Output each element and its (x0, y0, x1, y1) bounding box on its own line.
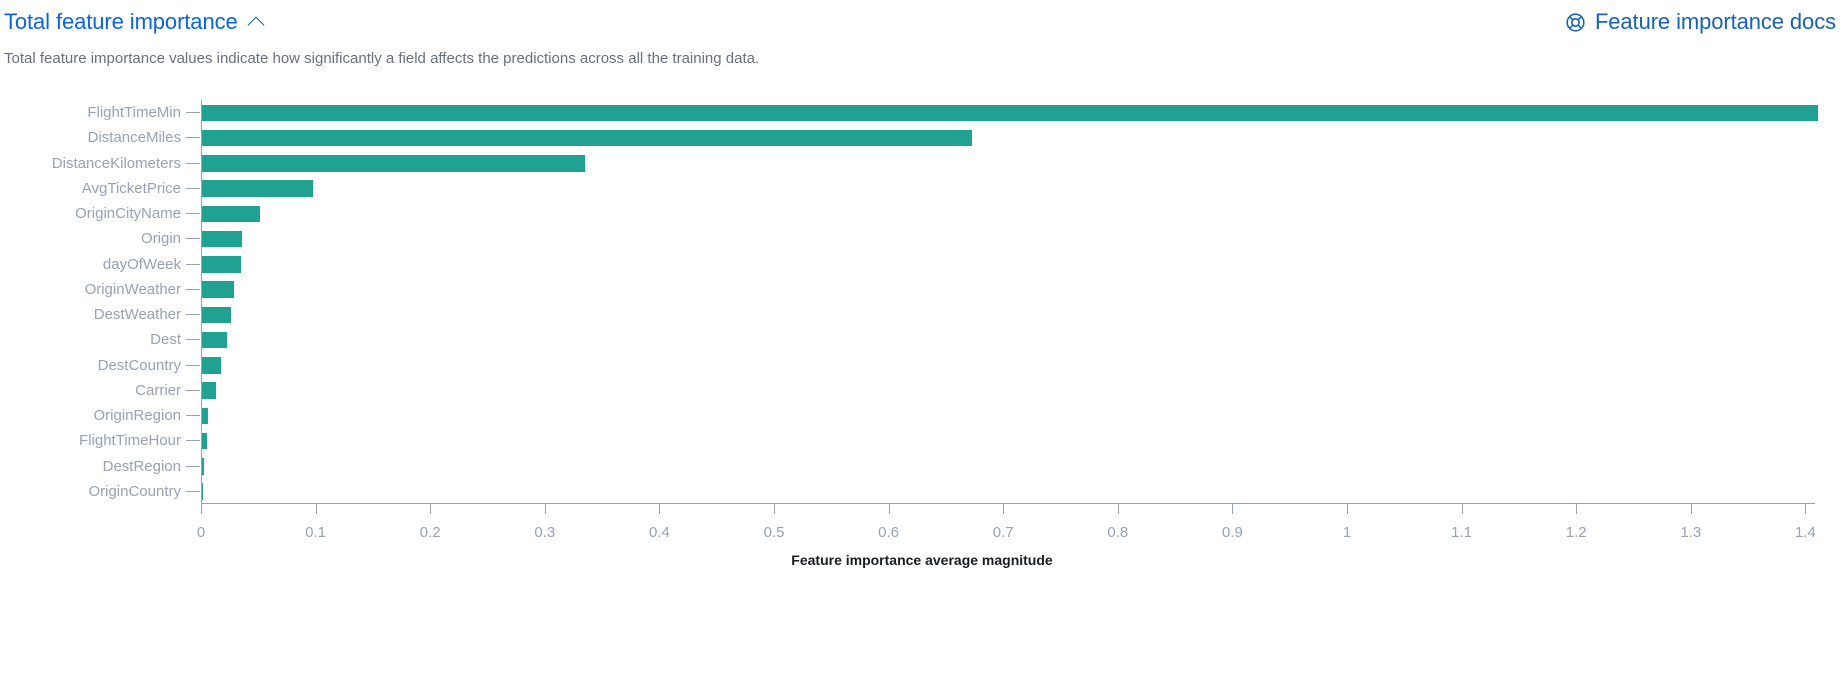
bar[interactable] (202, 180, 313, 197)
page-title: Total feature importance (4, 9, 238, 35)
y-axis-tick (186, 163, 200, 164)
bar[interactable] (202, 231, 242, 248)
y-axis-label: DistanceMiles (88, 125, 181, 150)
panel-header: Total feature importance Feature importa… (0, 0, 1844, 44)
x-axis-tick-label: 0.5 (764, 524, 785, 541)
y-axis-label: Origin (141, 226, 181, 251)
bar-row[interactable]: OriginCountry (0, 479, 1844, 504)
bar[interactable] (202, 332, 227, 349)
bar-row[interactable]: DestCountry (0, 353, 1844, 378)
y-axis-tick (186, 213, 200, 214)
chevron-up-icon[interactable] (248, 13, 266, 31)
y-axis-label: DistanceKilometers (52, 151, 181, 176)
x-axis-title: Feature importance average magnitude (0, 552, 1844, 568)
y-axis-tick (186, 390, 200, 391)
bar-row[interactable]: OriginCityName (0, 201, 1844, 226)
y-axis-label: AvgTicketPrice (82, 176, 181, 201)
bar[interactable] (202, 256, 241, 273)
y-axis-label: dayOfWeek (103, 252, 181, 277)
bar[interactable] (202, 206, 260, 223)
y-axis-label: OriginCityName (75, 201, 181, 226)
bar-row[interactable]: DestRegion (0, 454, 1844, 479)
y-axis-label: FlightTimeMin (87, 100, 181, 125)
bar[interactable] (202, 458, 204, 475)
bar-row[interactable]: Dest (0, 327, 1844, 352)
bar[interactable] (202, 408, 208, 425)
bar-row[interactable]: DistanceKilometers (0, 151, 1844, 176)
x-axis-tick-line (1347, 504, 1348, 514)
x-axis-tick-line (1003, 504, 1004, 514)
y-axis-tick (186, 339, 200, 340)
y-axis-tick (186, 466, 200, 467)
docs-link-label: Feature importance docs (1595, 9, 1836, 35)
bar[interactable] (202, 130, 972, 147)
y-axis-label: DestCountry (98, 353, 181, 378)
y-axis-tick (186, 415, 200, 416)
y-axis-label: Dest (150, 327, 181, 352)
help-lifebuoy-icon (1565, 12, 1586, 33)
x-axis-tick-label: 1.3 (1680, 524, 1701, 541)
y-axis-label: DestRegion (103, 454, 181, 479)
x-axis-tick-line (545, 504, 546, 514)
y-axis-tick (186, 491, 200, 492)
x-axis-tick-label: 1 (1343, 524, 1351, 541)
y-axis-tick (186, 289, 200, 290)
x-axis-tick-label: 1.1 (1451, 524, 1472, 541)
bar-row[interactable]: FlightTimeMin (0, 100, 1844, 125)
x-axis-tick-line (1691, 504, 1692, 514)
bar-row[interactable]: OriginWeather (0, 277, 1844, 302)
bar-row[interactable]: AvgTicketPrice (0, 176, 1844, 201)
bar-row[interactable]: FlightTimeHour (0, 428, 1844, 453)
bar-row[interactable]: DistanceMiles (0, 125, 1844, 150)
y-axis-tick (186, 264, 200, 265)
bar-row[interactable]: Origin (0, 226, 1844, 251)
x-axis-tick-label: 0.6 (878, 524, 899, 541)
x-axis-tick-label: 0.9 (1222, 524, 1243, 541)
bar[interactable] (202, 483, 203, 500)
x-axis-tick-line (1232, 504, 1233, 514)
y-axis-tick (186, 112, 200, 113)
x-axis-tick-line (1805, 504, 1806, 514)
y-axis-label: OriginCountry (88, 479, 181, 504)
bar-row[interactable]: OriginRegion (0, 403, 1844, 428)
x-axis-tick-line (430, 504, 431, 514)
bar[interactable] (202, 307, 231, 324)
x-axis-tick-line (201, 504, 202, 514)
x-axis-tick-line (774, 504, 775, 514)
x-axis-tick-label: 0.1 (305, 524, 326, 541)
x-axis-tick-label: 1.2 (1566, 524, 1587, 541)
bar[interactable] (202, 357, 221, 374)
bar[interactable] (202, 382, 216, 399)
bar[interactable] (202, 281, 234, 298)
x-axis-tick-line (1462, 504, 1463, 514)
y-axis-label: OriginRegion (93, 403, 181, 428)
feature-importance-docs-link[interactable]: Feature importance docs (1565, 9, 1836, 35)
x-axis-tick-label: 0.2 (420, 524, 441, 541)
bar-row[interactable]: dayOfWeek (0, 252, 1844, 277)
x-axis-tick-label: 0.3 (534, 524, 555, 541)
y-axis-tick (186, 188, 200, 189)
bar-row[interactable]: DestWeather (0, 302, 1844, 327)
x-axis-tick-line (889, 504, 890, 514)
y-axis-tick (186, 137, 200, 138)
y-axis-tick (186, 440, 200, 441)
y-axis-tick (186, 314, 200, 315)
x-axis-tick-label: 0.8 (1107, 524, 1128, 541)
bar[interactable] (202, 433, 207, 450)
y-axis-label: OriginWeather (85, 277, 181, 302)
y-axis-label: Carrier (135, 378, 181, 403)
y-axis-label: DestWeather (94, 302, 181, 327)
x-axis-tick-label: 0.7 (993, 524, 1014, 541)
y-axis-tick (186, 238, 200, 239)
feature-importance-bar-chart: FlightTimeMinDistanceMilesDistanceKilome… (0, 88, 1844, 680)
bar-row[interactable]: Carrier (0, 378, 1844, 403)
x-axis-tick-line (316, 504, 317, 514)
panel-description: Total feature importance values indicate… (4, 48, 759, 69)
x-axis-tick-line (659, 504, 660, 514)
total-feature-importance-accordion-toggle[interactable]: Total feature importance (4, 9, 266, 35)
x-axis-tick-line (1118, 504, 1119, 514)
bar[interactable] (202, 105, 1818, 122)
x-axis-tick-label: 0.4 (649, 524, 670, 541)
y-axis-label: FlightTimeHour (79, 428, 181, 453)
x-axis-tick-label: 1.4 (1795, 524, 1816, 541)
x-axis-tick-line (1576, 504, 1577, 514)
bar[interactable] (202, 155, 585, 172)
x-axis-tick-label: 0 (197, 524, 205, 541)
y-axis-tick (186, 365, 200, 366)
